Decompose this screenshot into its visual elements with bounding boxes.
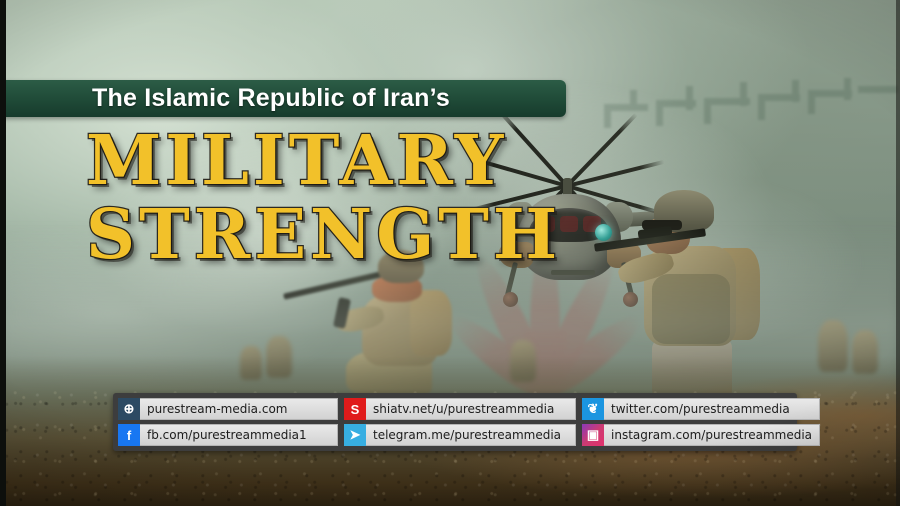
social-link-label[interactable]: fb.com/purestreammedia1 <box>140 424 338 446</box>
right-letterbox-edge <box>896 0 900 506</box>
social-link-label[interactable]: telegram.me/purestreammedia <box>366 424 576 446</box>
social-item-website[interactable]: ⊕ purestream-media.com <box>118 398 338 420</box>
social-row: f fb.com/purestreammedia1 ➤ telegram.me/… <box>118 424 792 446</box>
social-links-bar: ⊕ purestream-media.com S shiatv.net/u/pu… <box>113 393 797 451</box>
globe-icon: ⊕ <box>118 398 140 420</box>
twitter-icon: ❦ <box>582 398 604 420</box>
subtitle-banner: The Islamic Republic of Iran’s <box>0 80 566 117</box>
facebook-icon: f <box>118 424 140 446</box>
social-item-facebook[interactable]: f fb.com/purestreammedia1 <box>118 424 338 446</box>
social-row: ⊕ purestream-media.com S shiatv.net/u/pu… <box>118 398 792 420</box>
social-item-instagram[interactable]: ▣ instagram.com/purestreammedia <box>582 424 820 446</box>
social-link-label[interactable]: shiatv.net/u/purestreammedia <box>366 398 576 420</box>
social-item-telegram[interactable]: ➤ telegram.me/purestreammedia <box>344 424 576 446</box>
social-link-label[interactable]: twitter.com/purestreammedia <box>604 398 820 420</box>
title-line-1: MILITARY <box>86 124 786 198</box>
social-link-label[interactable]: instagram.com/purestreammedia <box>604 424 820 446</box>
left-letterbox-edge <box>0 0 6 506</box>
poster-canvas: The Islamic Republic of Iran’s MILITARY … <box>0 0 900 506</box>
instagram-icon: ▣ <box>582 424 604 446</box>
social-link-label[interactable]: purestream-media.com <box>140 398 338 420</box>
shiatv-icon: S <box>344 398 366 420</box>
subtitle-text: The Islamic Republic of Iran’s <box>92 84 450 113</box>
social-item-twitter[interactable]: ❦ twitter.com/purestreammedia <box>582 398 820 420</box>
title-line-2: STRENGTH <box>86 198 786 272</box>
telegram-icon: ➤ <box>344 424 366 446</box>
page-title: MILITARY STRENGTH <box>86 124 786 272</box>
social-item-shiatv[interactable]: S shiatv.net/u/purestreammedia <box>344 398 576 420</box>
